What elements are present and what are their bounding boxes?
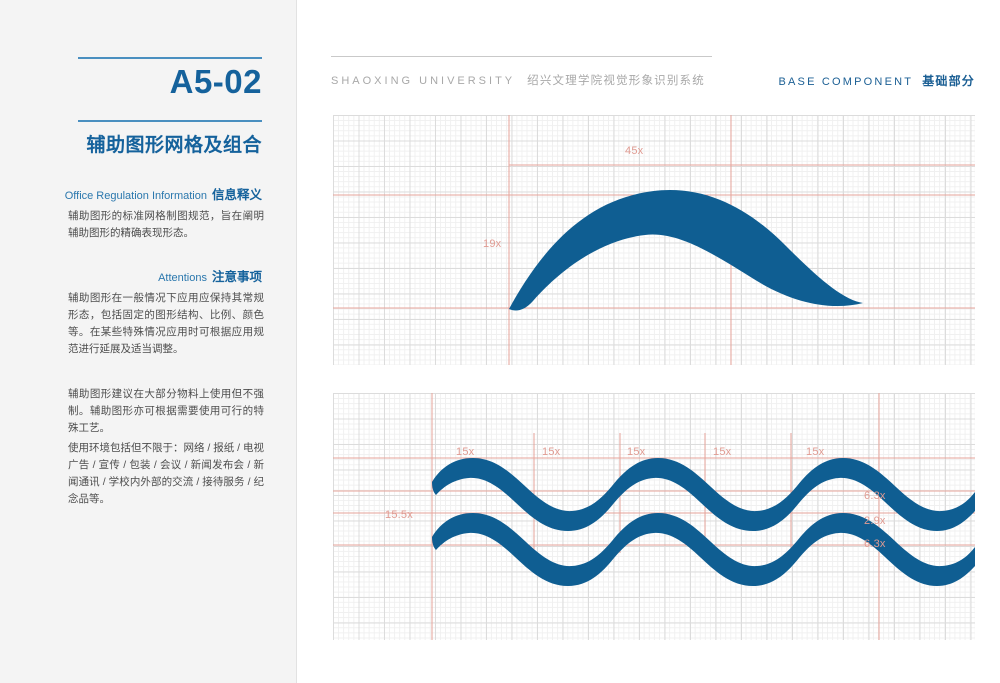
dimension-label-15x-3: 15x — [627, 446, 645, 458]
page-code: A5-02 — [0, 62, 262, 102]
header-brand: SHAOXING UNIVERSITY绍兴文理学院视觉形象识别系统 — [331, 72, 705, 88]
section-heading-attentions-en: Attentions — [158, 272, 207, 284]
dimension-label-19x: 19x — [483, 238, 501, 250]
header-category-cn: 基础部分 — [922, 74, 975, 88]
dimension-label-2-9x: 2.9x — [864, 515, 886, 527]
sidebar-divider-mid — [78, 120, 262, 122]
auxiliary-graphic-wave-row-2 — [432, 513, 975, 586]
header-category: BASE COMPONENT基础部分 — [778, 72, 975, 89]
diagram-panel-top: 45x 19x — [333, 115, 975, 365]
page-root: A5-02 辅助图形网格及组合 Office Regulation Inform… — [0, 0, 1000, 683]
section-heading-info-en: Office Regulation Information — [65, 190, 207, 202]
dimension-label-15x-1: 15x — [456, 446, 474, 458]
sidebar-divider-top — [78, 57, 262, 59]
header-brand-cn: 绍兴文理学院视觉形象识别系统 — [527, 75, 705, 87]
dimension-label-45x: 45x — [625, 145, 643, 157]
auxiliary-graphic-wave-large — [509, 190, 863, 310]
sidebar-separator — [296, 0, 297, 683]
section-heading-info: Office Regulation Information信息释义 — [62, 184, 262, 203]
section-heading-info-cn: 信息释义 — [212, 188, 262, 202]
dimension-label-15x-5: 15x — [806, 446, 824, 458]
header-category-en: BASE COMPONENT — [778, 76, 913, 88]
guide-lines-top — [333, 115, 975, 365]
section-body-attentions: 辅助图形在一般情况下应用应保持其常规形态，包括固定的图形结构、比例、颜色等。在某… — [68, 290, 264, 358]
header-rule — [331, 56, 712, 57]
section-body-usage-note: 辅助图形建议在大部分物料上使用但不强制。辅助图形亦可根据需要使用可行的特殊工艺。 — [68, 386, 264, 437]
dimension-label-15-5x: 15.5x — [385, 509, 413, 521]
dimension-label-15x-4: 15x — [713, 446, 731, 458]
dimension-label-15x-2: 15x — [542, 446, 560, 458]
dimension-label-6-3x-2: 6.3x — [864, 538, 886, 550]
section-heading-attentions-cn: 注意事项 — [212, 270, 262, 284]
sidebar: A5-02 辅助图形网格及组合 Office Regulation Inform… — [0, 0, 297, 683]
section-body-info: 辅助图形的标准网格制图规范，旨在阐明辅助图形的精确表现形态。 — [68, 208, 264, 242]
section-heading-attentions: Attentions注意事项 — [62, 266, 262, 285]
dimension-label-6-3x-1: 6.3x — [864, 490, 886, 502]
section-body-environments: 使用环境包括但不限于：网络 / 报纸 / 电视广告 / 宣传 / 包装 / 会议… — [68, 440, 264, 508]
auxiliary-graphic-wave-row-1 — [432, 458, 975, 531]
header-brand-en: SHAOXING UNIVERSITY — [331, 75, 515, 87]
page-title: 辅助图形网格及组合 — [0, 130, 262, 157]
diagram-top-svg — [333, 115, 975, 365]
diagram-panel-bottom: 15x 15x 15x 15x 15x 15.5x 6.3x 2.9x 6.3x — [333, 393, 975, 640]
